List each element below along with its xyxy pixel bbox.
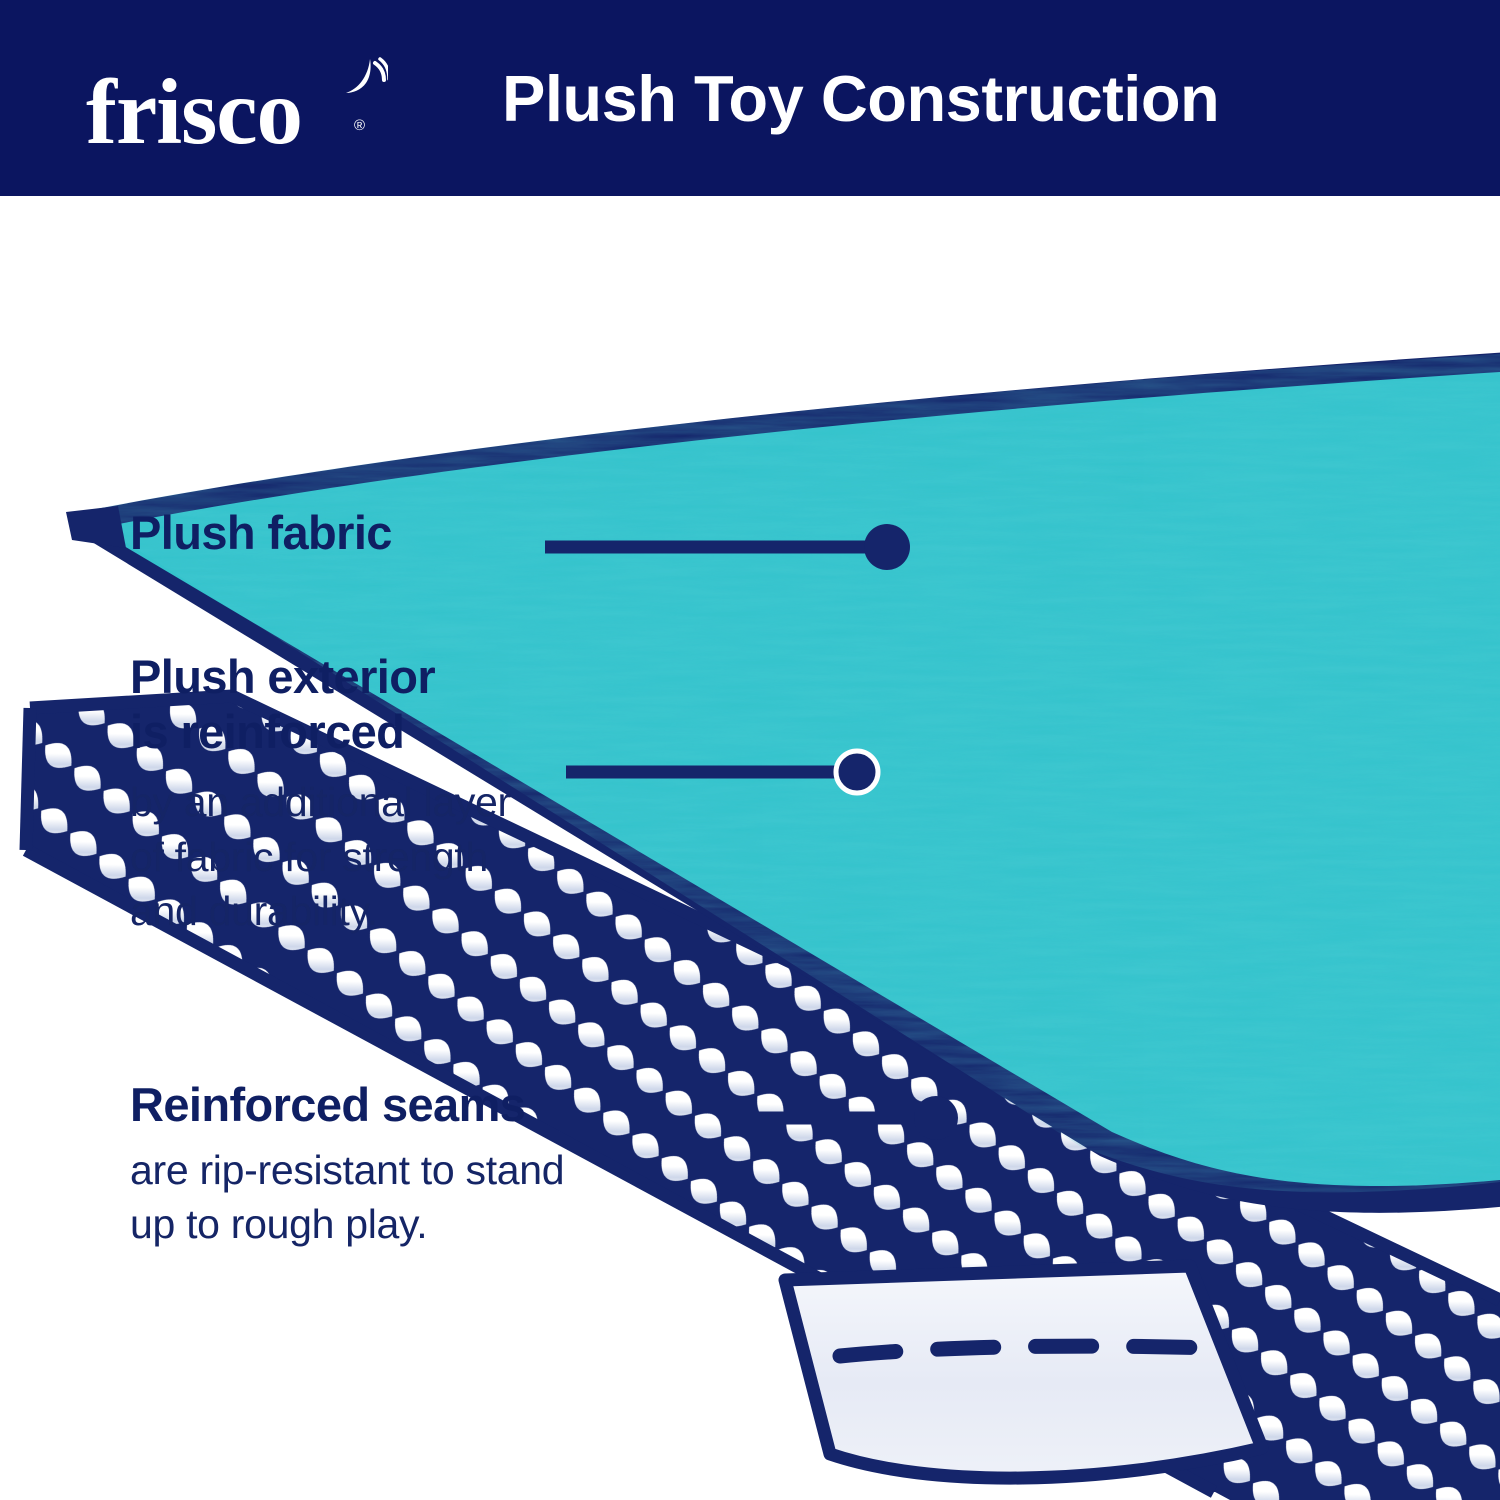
callout-plush-fabric-heading: Plush fabric bbox=[130, 506, 392, 561]
callout-plush-exterior-reinforced: Plush exterior is reinforced by an addit… bbox=[130, 650, 511, 939]
frisco-logo: frisco ® bbox=[86, 43, 386, 153]
callout-plush-exterior-heading: Plush exterior is reinforced bbox=[130, 650, 511, 759]
callout-reinforced-seams: Reinforced seams are rip-resistant to st… bbox=[130, 1078, 564, 1252]
page-title: Plush Toy Construction bbox=[502, 61, 1219, 136]
registered-trademark-symbol: ® bbox=[354, 117, 365, 134]
header-bar: frisco ® Plush Toy Construction bbox=[0, 0, 1500, 196]
callout-reinforced-seams-body: are rip-resistant to stand up to rough p… bbox=[130, 1143, 564, 1252]
plush-toy-construction-infographic: frisco ® Plush Toy Construction bbox=[0, 0, 1500, 1500]
callout-reinforced-seams-heading: Reinforced seams bbox=[130, 1078, 564, 1133]
callout-plush-fabric: Plush fabric bbox=[130, 506, 392, 561]
callout-plush-exterior-body: by an additional layer of fabric for str… bbox=[130, 775, 511, 939]
frisco-logo-swoosh-icon bbox=[342, 53, 388, 99]
frisco-logo-wordmark: frisco bbox=[86, 66, 302, 159]
seam-flap bbox=[785, 1266, 1262, 1478]
